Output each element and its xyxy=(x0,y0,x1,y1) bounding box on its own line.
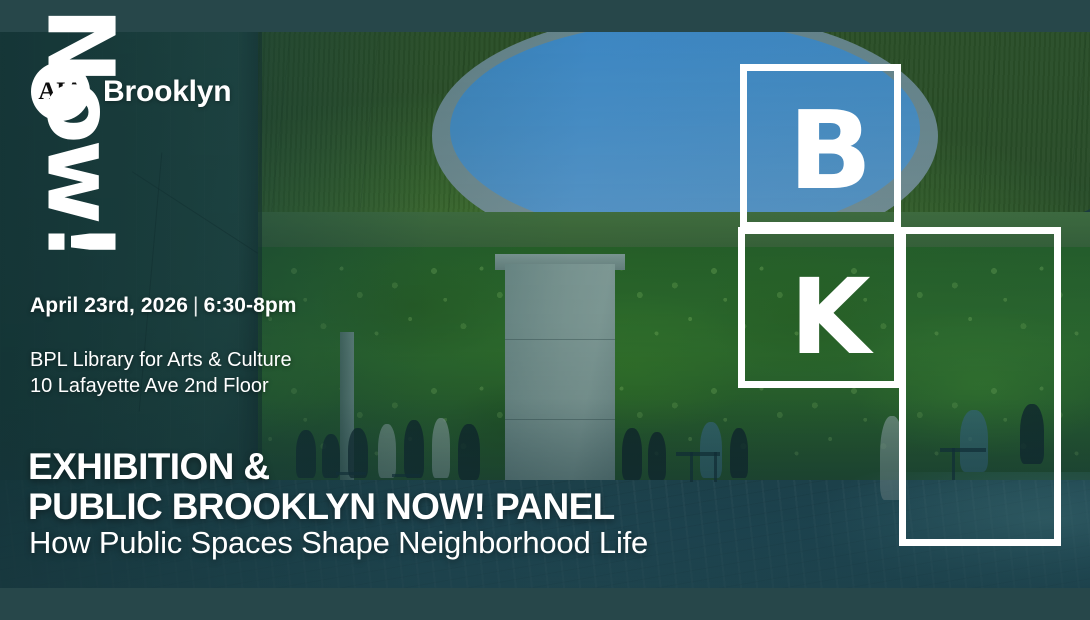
page-title: EXHIBITION & PUBLIC BROOKLYN NOW! PANEL xyxy=(28,447,615,527)
event-time: 6:30-8pm xyxy=(204,294,297,317)
event-venue: BPL Library for Arts & Culture 10 Lafaye… xyxy=(30,347,292,400)
title-line-1: EXHIBITION & xyxy=(28,447,615,487)
bottom-band xyxy=(0,588,1090,620)
event-poster: AIA Brooklyn April 23rd, 2026|6:30-8pm B… xyxy=(0,0,1090,620)
venue-name: BPL Library for Arts & Culture xyxy=(30,347,292,373)
title-line-2: PUBLIC BROOKLYN NOW! PANEL xyxy=(28,487,615,527)
page-subtitle: How Public Spaces Shape Neighborhood Lif… xyxy=(29,525,648,561)
top-band xyxy=(0,0,1090,32)
aia-circle-logo: AIA xyxy=(31,62,90,121)
venue-address: 10 Lafayette Ave 2nd Floor xyxy=(30,373,292,399)
aia-brooklyn-logo[interactable]: AIA Brooklyn xyxy=(31,62,231,121)
aia-mark-text: AIA xyxy=(38,79,82,104)
chapter-name: Brooklyn xyxy=(103,75,231,109)
event-date: April 23rd, 2026 xyxy=(30,294,188,317)
event-datetime: April 23rd, 2026|6:30-8pm xyxy=(30,294,297,318)
datetime-separator: | xyxy=(188,294,204,317)
